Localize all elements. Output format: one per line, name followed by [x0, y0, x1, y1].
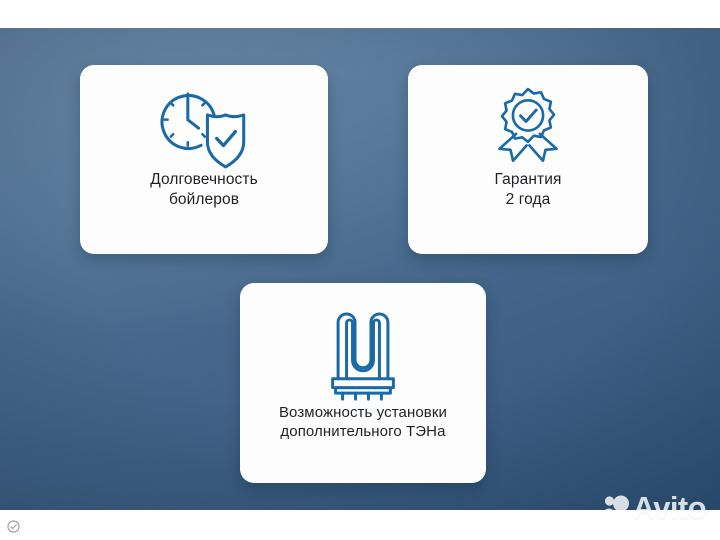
top-white-band [0, 0, 720, 28]
award-ribbon-check-icon [478, 86, 578, 170]
listing-image: Долговечность бойлеров Гарантия 2 года [0, 0, 720, 540]
bottom-white-band [0, 510, 720, 540]
feature-card-label: Долговечность бойлеров [150, 170, 258, 210]
verified-check-icon [7, 520, 20, 533]
feature-card-label: Возможность установки дополнительного ТЭ… [279, 403, 447, 441]
feature-card-label: Гарантия 2 года [495, 170, 562, 210]
feature-card-warranty[interactable]: Гарантия 2 года [408, 65, 648, 254]
heating-element-icon [321, 305, 405, 403]
feature-card-heating-element[interactable]: Возможность установки дополнительного ТЭ… [240, 283, 486, 483]
feature-card-durability[interactable]: Долговечность бойлеров [80, 65, 328, 254]
clock-shield-icon [152, 86, 256, 170]
